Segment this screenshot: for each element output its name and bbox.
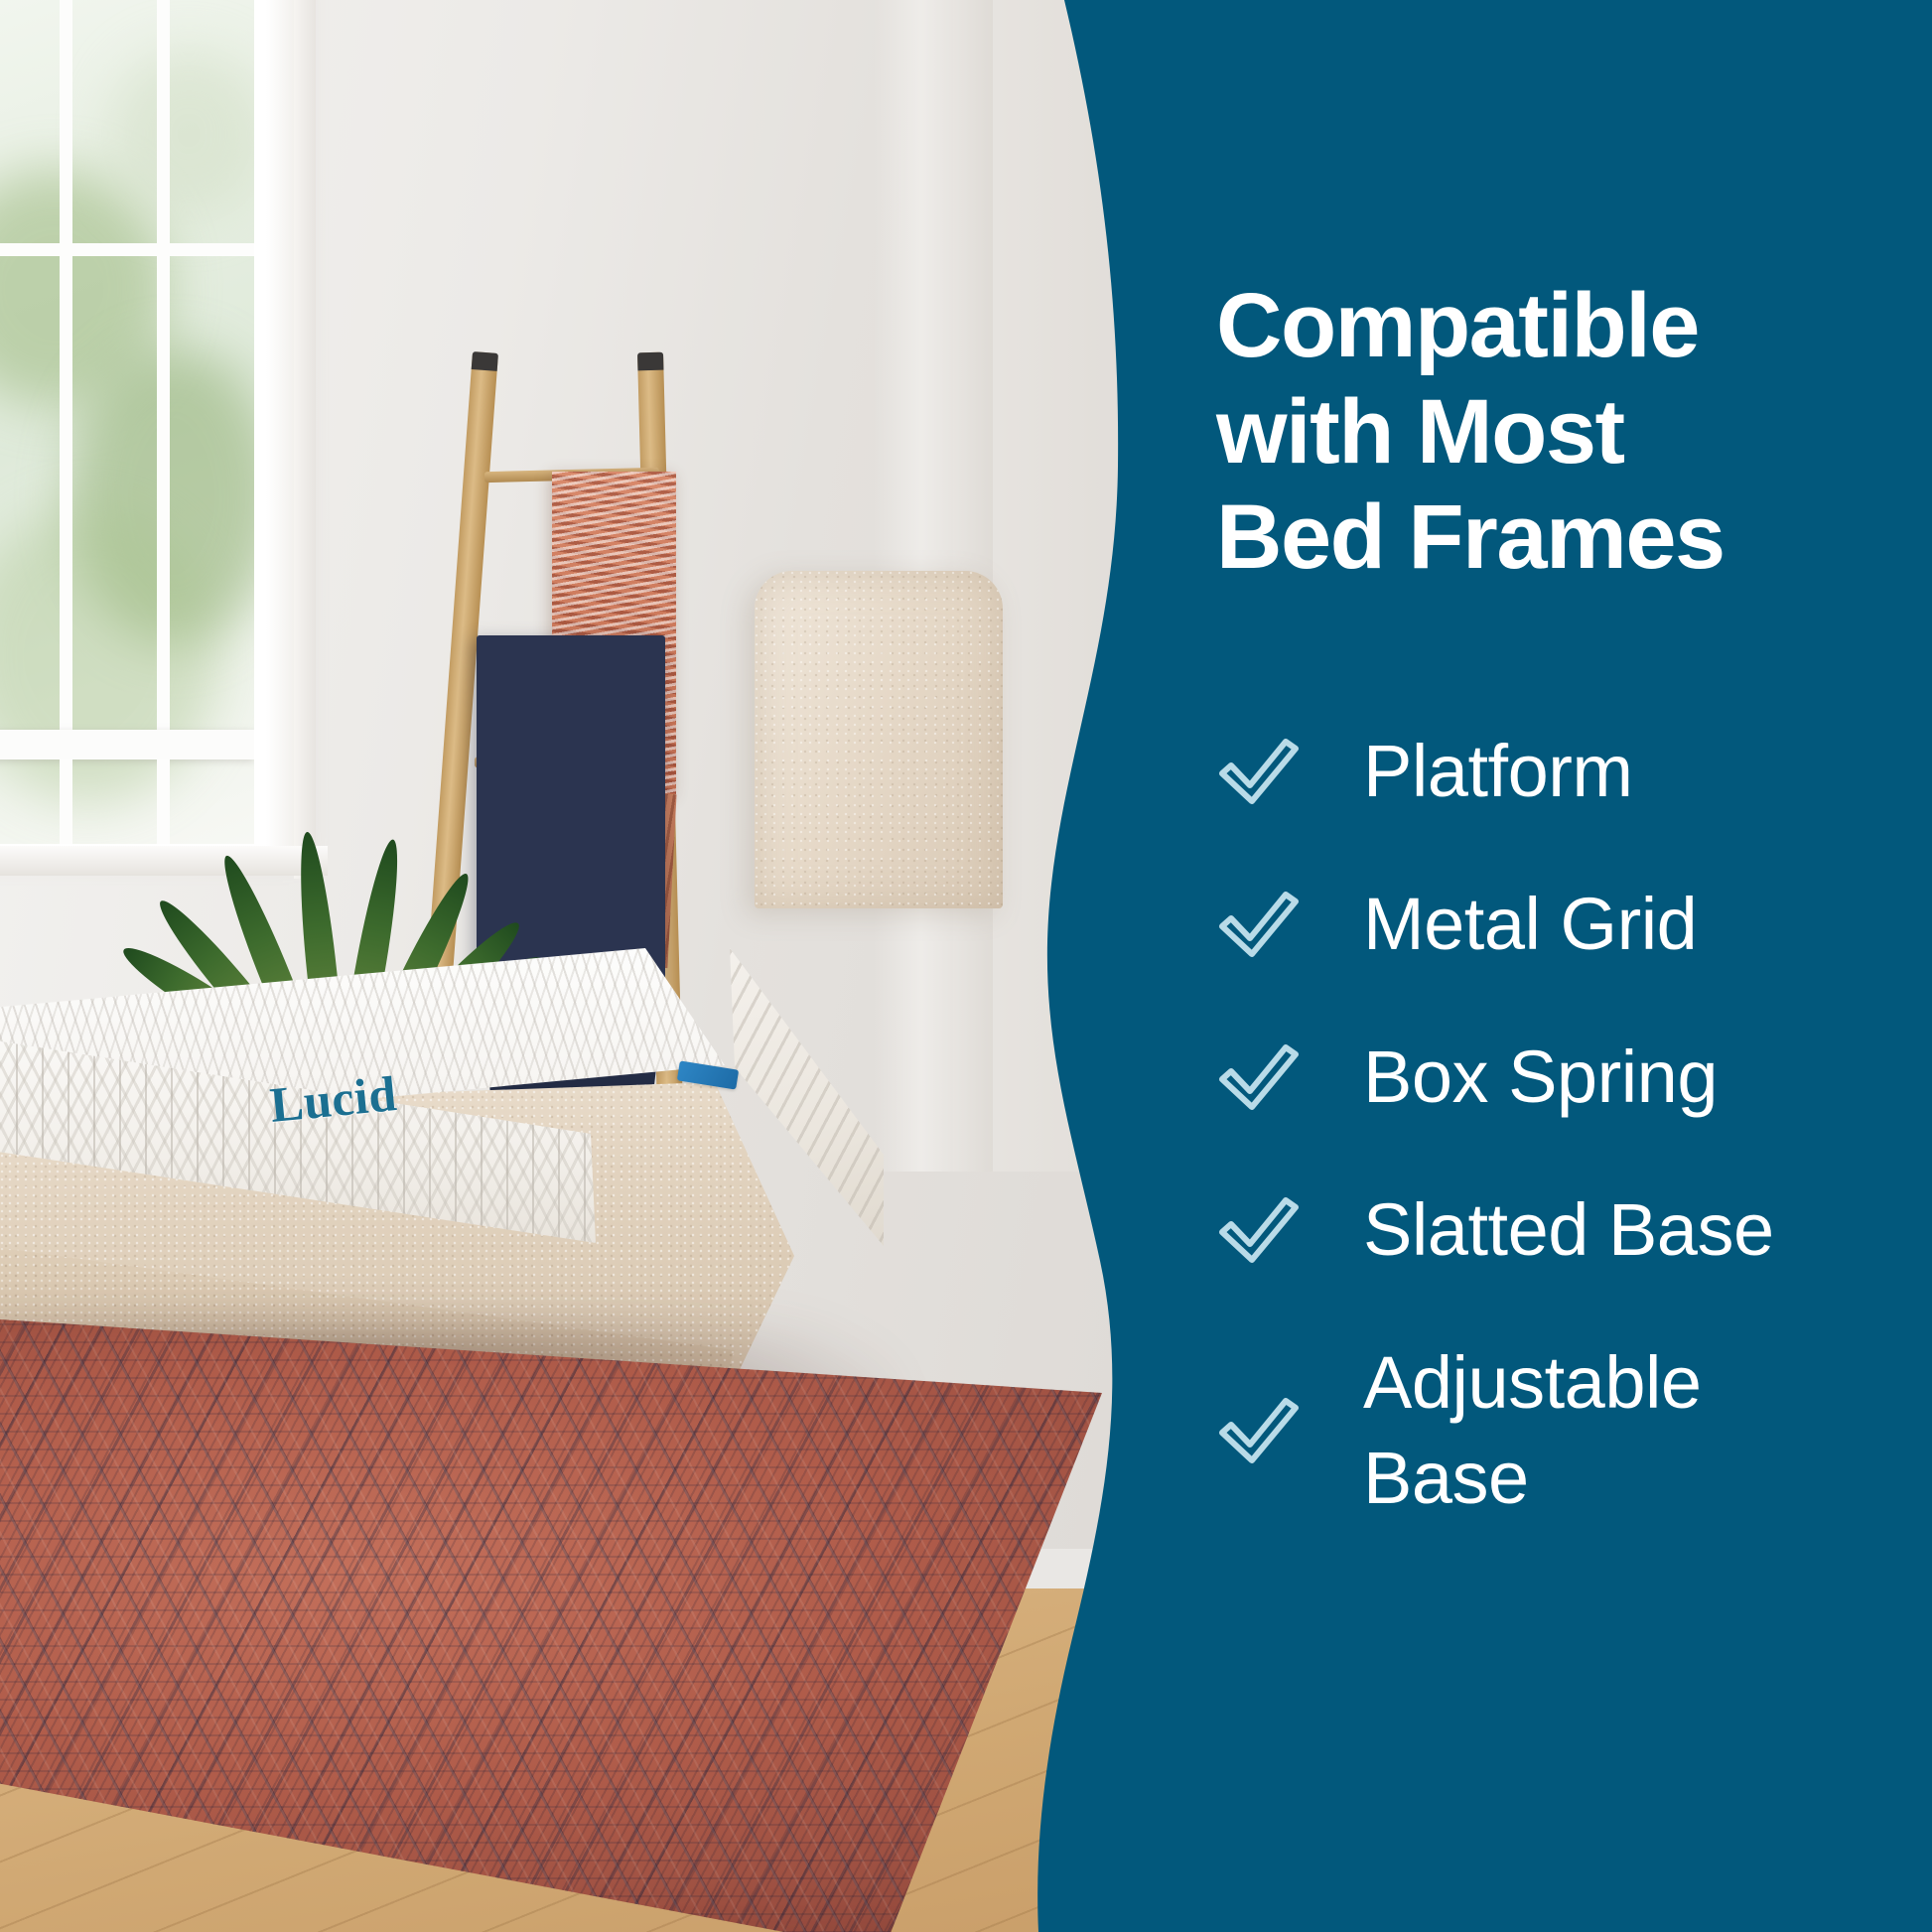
panel-content: Compatible with Most Bed Frames Platform	[1216, 0, 1911, 1932]
feature-item-slatted-base: Slatted Base	[1216, 1154, 1891, 1307]
panel-headline: Compatible with Most Bed Frames	[1216, 273, 1852, 591]
headline-line-1: Compatible	[1216, 273, 1852, 379]
compatibility-feature-list: Platform Metal Grid Box Spring	[1216, 695, 1891, 1555]
lucid-brand-logo: Lucid	[268, 1064, 400, 1134]
feature-item-adjustable-base: Adjustable Base	[1216, 1307, 1891, 1555]
headboard	[755, 571, 1003, 908]
window-trim-right	[294, 0, 316, 879]
headline-line-3: Bed Frames	[1216, 484, 1852, 591]
feature-item-platform: Platform	[1216, 695, 1891, 848]
feature-label: Metal Grid	[1363, 877, 1697, 972]
feature-label: Platform	[1363, 724, 1633, 819]
window-glass	[0, 0, 254, 844]
check-icon	[1216, 1194, 1363, 1266]
feature-item-metal-grid: Metal Grid	[1216, 848, 1891, 1001]
marketing-banner: Lucid Compatible with Most Bed Frames	[0, 0, 1932, 1932]
check-icon	[1216, 1041, 1363, 1113]
check-icon	[1216, 889, 1363, 960]
headline-line-2: with Most	[1216, 379, 1852, 485]
feature-label: Adjustable Base	[1363, 1335, 1702, 1526]
feature-label: Slatted Base	[1363, 1182, 1774, 1278]
check-icon	[1216, 1395, 1363, 1466]
feature-item-box-spring: Box Spring	[1216, 1001, 1891, 1154]
check-icon	[1216, 736, 1363, 807]
product-lifestyle-photo: Lucid	[0, 0, 1172, 1932]
window	[0, 0, 294, 854]
feature-label: Box Spring	[1363, 1030, 1718, 1125]
